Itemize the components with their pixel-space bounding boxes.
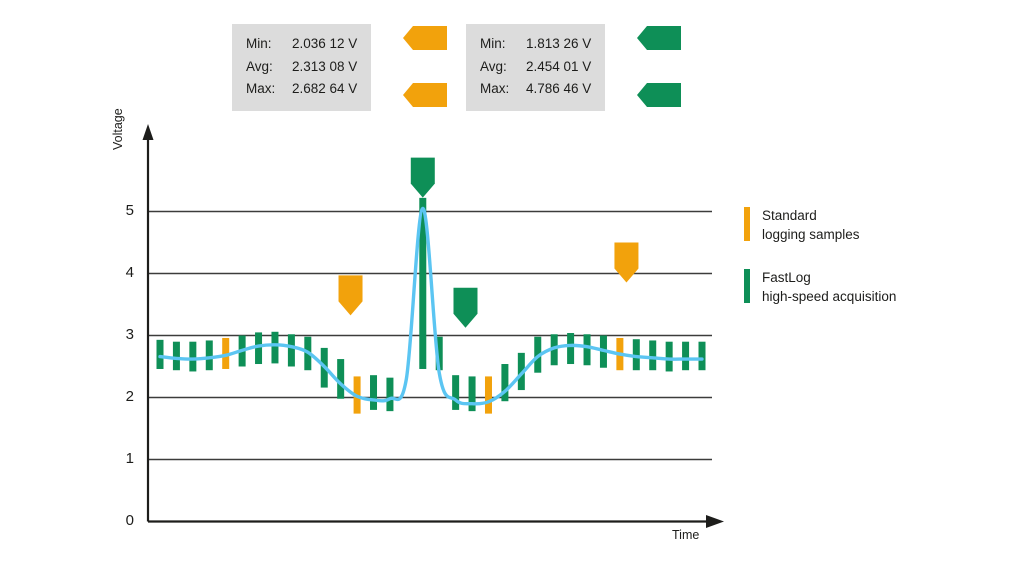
trend-line — [160, 208, 702, 403]
x-axis-title: Time — [672, 528, 699, 542]
legend-label-fastlog-line1: FastLog — [762, 268, 896, 287]
legend-swatch-fastlog — [744, 269, 750, 303]
legend-label-standard: Standard logging samples — [762, 206, 860, 244]
marker-standard-max — [614, 243, 638, 283]
legend-swatch-standard — [744, 207, 750, 241]
fastlog-bars — [157, 198, 706, 411]
sample-bar — [469, 376, 476, 411]
legend-item-standard: Standard logging samples — [744, 206, 896, 244]
y-axis-tick-label: 5 — [114, 202, 134, 219]
sample-bar — [271, 332, 278, 364]
y-axis-title: Voltage — [111, 108, 125, 150]
sample-bar — [501, 364, 508, 401]
legend-label-standard-line2: logging samples — [762, 225, 860, 244]
legend-label-fastlog: FastLog high-speed acquisition — [762, 268, 896, 306]
chart-legend: Standard logging samples FastLog high-sp… — [744, 206, 896, 330]
sample-bar — [682, 342, 689, 371]
sample-bar — [699, 342, 706, 371]
chart-markers — [339, 158, 639, 328]
y-axis-arrowhead — [143, 124, 154, 140]
sample-bar — [189, 342, 196, 372]
legend-label-fastlog-line2: high-speed acquisition — [762, 287, 896, 306]
y-axis-tick-label: 1 — [114, 450, 134, 467]
figure-root: Min: 2.036 12 V Avg: 2.313 08 V Max: 2.6… — [0, 0, 1024, 576]
sample-bar — [370, 375, 377, 410]
sample-bar — [567, 333, 574, 364]
sample-bar — [157, 340, 164, 369]
sample-bar — [206, 340, 213, 370]
marker-fastlog-min — [453, 288, 477, 328]
legend-item-fastlog: FastLog high-speed acquisition — [744, 268, 896, 306]
sample-bar — [452, 375, 459, 410]
x-axis-arrowhead — [706, 515, 724, 528]
sample-bar — [584, 334, 591, 365]
y-axis-tick-label: 4 — [114, 264, 134, 281]
sample-bar — [649, 340, 656, 370]
legend-label-standard-line1: Standard — [762, 206, 860, 225]
sample-bar — [288, 334, 295, 366]
marker-standard-min — [339, 275, 363, 315]
y-axis-tick-label: 2 — [114, 388, 134, 405]
y-axis-tick-label: 0 — [114, 512, 134, 529]
sample-bar — [173, 342, 180, 371]
marker-fastlog-max — [411, 158, 435, 198]
sample-bar — [485, 376, 492, 413]
sample-bar — [337, 359, 344, 399]
sample-bar — [666, 342, 673, 372]
y-axis-tick-label: 3 — [114, 326, 134, 343]
sample-bar — [386, 378, 393, 411]
